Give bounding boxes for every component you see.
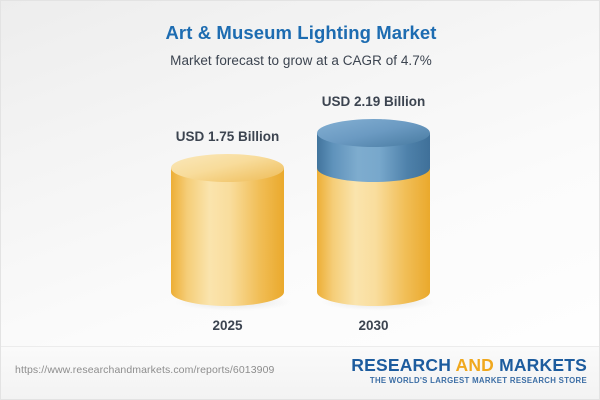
category-label-2030: 2030 (358, 318, 388, 333)
logo-wordmark: RESEARCH AND MARKETS (351, 356, 587, 374)
source-url[interactable]: https://www.researchandmarkets.com/repor… (15, 364, 274, 376)
footer: https://www.researchandmarkets.com/repor… (1, 346, 600, 399)
logo-word-research: RESEARCH (351, 355, 451, 375)
research-and-markets-logo[interactable]: RESEARCH AND MARKETS THE WORLD'S LARGEST… (351, 356, 587, 385)
bar-group-2025: USD 1.75 Billion (171, 1, 284, 349)
cylinder-2030[interactable] (317, 121, 430, 304)
logo-tagline: THE WORLD'S LARGEST MARKET RESEARCH STOR… (351, 376, 587, 385)
plot-area: USD 1.75 Billion (1, 1, 600, 349)
value-label-2025: USD 1.75 Billion (176, 129, 280, 144)
value-label-2030: USD 2.19 Billion (322, 94, 426, 109)
bar-group-2030: USD 2.19 Billion (317, 1, 430, 349)
category-label-2025: 2025 (212, 318, 242, 333)
cylinder-2025[interactable] (171, 156, 284, 304)
logo-word-markets: MARKETS (499, 355, 587, 375)
logo-word-and: AND (455, 355, 494, 375)
chart-canvas: Art & Museum Lighting Market Market fore… (0, 0, 600, 400)
